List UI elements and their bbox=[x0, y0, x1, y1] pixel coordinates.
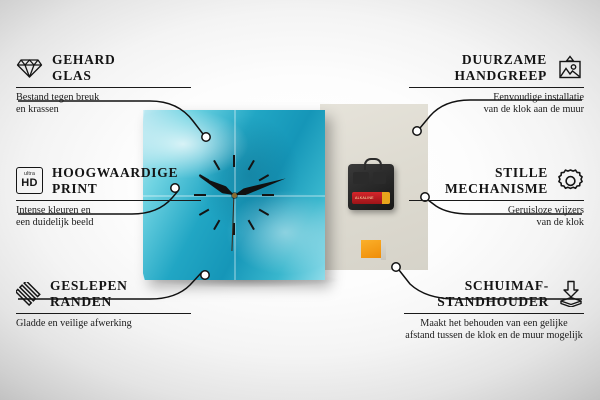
feature-stille-mechanisme: STILLE MECHANISME Geruisloze wijzers van… bbox=[409, 165, 584, 230]
feature-desc-line2: een duidelijk beeld bbox=[16, 217, 94, 228]
feature-title-line1: SCHUIMAF- bbox=[465, 278, 549, 293]
aa-battery: ALKALINE bbox=[352, 192, 390, 204]
feature-header: GESLEPEN RANDEN bbox=[16, 278, 191, 309]
feature-header: STILLE MECHANISME bbox=[409, 165, 584, 196]
feature-title-line1: GEHARD bbox=[52, 52, 115, 67]
feature-description: Bestand tegen breuk en krassen bbox=[16, 92, 191, 117]
feature-description: Gladde en veilige afwerking bbox=[16, 318, 191, 330]
feature-description: Geruisloze wijzers van de klok bbox=[409, 205, 584, 230]
feature-duurzame-handgreep: DUURZAME HANDGREEP Eenvoudige installati… bbox=[409, 52, 584, 117]
feature-schuimafstandhouder: SCHUIMAF- STANDHOUDER Maakt het behouden… bbox=[404, 278, 584, 343]
feature-title-line2: STANDHOUDER bbox=[437, 294, 549, 309]
feature-desc-line1: Bestand tegen breuk bbox=[16, 92, 99, 103]
feature-divider bbox=[409, 87, 584, 88]
feature-divider bbox=[16, 87, 191, 88]
feature-desc-line1: Gladde en veilige afwerking bbox=[16, 318, 132, 329]
feature-desc-line2: van de klok aan de muur bbox=[484, 104, 584, 115]
feature-gehard-glas: GEHARD GLAS Bestand tegen breuk en krass… bbox=[16, 52, 191, 117]
feature-title-line2: GLAS bbox=[52, 68, 92, 83]
feature-desc-line1: Geruisloze wijzers bbox=[508, 205, 584, 216]
feature-title-line2: HANDGREEP bbox=[454, 68, 547, 83]
feature-desc-line2: van de klok bbox=[536, 217, 584, 228]
feature-title: GESLEPEN RANDEN bbox=[50, 278, 128, 309]
feature-hoogwaardige-print: ultra HD HOOGWAARDIGE PRINT Intense kleu… bbox=[16, 165, 201, 230]
feature-title: HOOGWAARDIGE PRINT bbox=[52, 165, 178, 196]
press-down-pad-icon bbox=[558, 280, 584, 307]
movement-panel-left bbox=[353, 172, 369, 184]
feature-title: DUURZAME HANDGREEP bbox=[454, 52, 547, 83]
foam-spacer-pad bbox=[361, 240, 381, 258]
foam-pad-side bbox=[381, 242, 386, 260]
feature-title-line1: GESLEPEN bbox=[50, 278, 128, 293]
feature-title-line1: HOOGWAARDIGE bbox=[52, 165, 178, 180]
feature-header: DUURZAME HANDGREEP bbox=[409, 52, 584, 83]
feature-description: Maakt het behouden van een gelijke afsta… bbox=[404, 318, 584, 343]
feature-title: GEHARD GLAS bbox=[52, 52, 115, 83]
picture-frame-icon bbox=[556, 55, 584, 81]
feature-header: GEHARD GLAS bbox=[16, 52, 191, 83]
beveled-edges-icon bbox=[16, 282, 41, 306]
clock-center-cap bbox=[232, 193, 237, 198]
battery-terminal bbox=[382, 192, 390, 204]
feature-title-line2: MECHANISME bbox=[445, 181, 548, 196]
feature-description: Intense kleuren en een duidelijk beeld bbox=[16, 205, 201, 230]
feature-geslepen-randen: GESLEPEN RANDEN Gladde en veilige afwerk… bbox=[16, 278, 191, 330]
battery-label: ALKALINE bbox=[355, 196, 374, 200]
feature-desc-line2: en krassen bbox=[16, 104, 59, 115]
diamond-icon bbox=[16, 57, 43, 79]
feature-desc-line1: Maakt het behouden van een gelijke bbox=[420, 318, 567, 329]
quartz-movement: ALKALINE bbox=[348, 164, 394, 210]
feature-title-line1: STILLE bbox=[495, 165, 548, 180]
feature-desc-line1: Intense kleuren en bbox=[16, 205, 91, 216]
feature-desc-line2: afstand tussen de klok en de muur mogeli… bbox=[405, 330, 582, 341]
feature-description: Eenvoudige installatie van de klok aan d… bbox=[409, 92, 584, 117]
feature-divider bbox=[16, 200, 201, 201]
feature-title-line1: DUURZAME bbox=[462, 52, 547, 67]
feature-divider bbox=[404, 313, 584, 314]
feature-title-line2: PRINT bbox=[52, 181, 98, 196]
ultra-hd-badge-icon: ultra HD bbox=[16, 167, 43, 194]
hanger-loop-icon bbox=[364, 158, 382, 170]
badge-large-text: HD bbox=[21, 178, 38, 189]
feature-header: ultra HD HOOGWAARDIGE PRINT bbox=[16, 165, 201, 196]
feature-title: SCHUIMAF- STANDHOUDER bbox=[437, 278, 549, 309]
feature-divider bbox=[16, 313, 191, 314]
movement-panel-right bbox=[373, 172, 386, 184]
infographic-canvas: ALKALINE bbox=[0, 0, 600, 400]
gear-icon bbox=[557, 168, 584, 194]
feature-title-line2: RANDEN bbox=[50, 294, 112, 309]
feature-title: STILLE MECHANISME bbox=[445, 165, 548, 196]
feature-desc-line1: Eenvoudige installatie bbox=[493, 92, 584, 103]
feature-divider bbox=[409, 200, 584, 201]
feature-header: SCHUIMAF- STANDHOUDER bbox=[404, 278, 584, 309]
